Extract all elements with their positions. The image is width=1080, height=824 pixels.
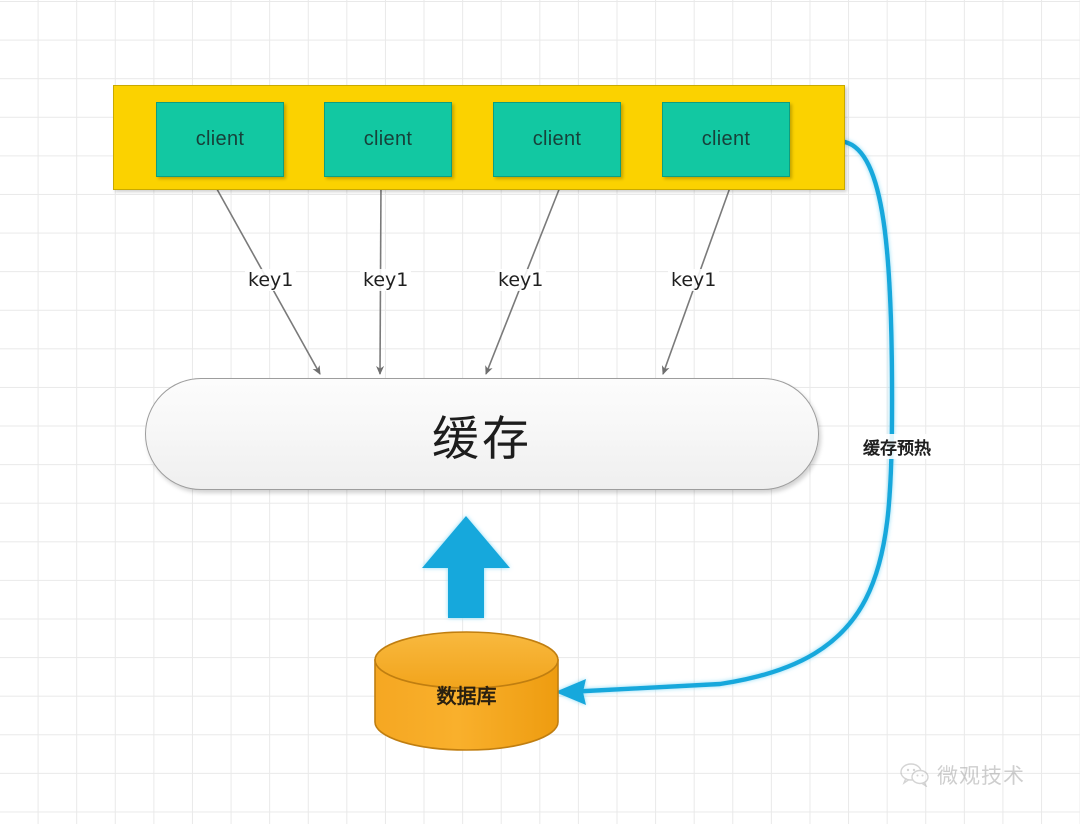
edge-label-key1-2: key1 [360,269,411,291]
client-box-label: client [533,128,582,151]
database-node[interactable]: 数据库 [375,632,558,750]
edge-label-key1-1: key1 [245,269,296,291]
watermark: 微观技术 [900,760,1025,790]
edge-label-key1-3: key1 [495,269,546,291]
client-box-label: client [702,128,751,151]
wechat-icon [900,763,930,787]
client-box-label: client [364,128,413,151]
client-box-1[interactable]: client [156,102,284,177]
client-group-container[interactable]: client client client client [113,85,845,190]
edge-label-key1-4: key1 [668,269,719,291]
cache-node[interactable]: 缓存 [145,378,819,490]
watermark-text: 微观技术 [937,760,1025,790]
client-box-4[interactable]: client [662,102,790,177]
cache-node-label: 缓存 [432,400,532,469]
client-box-2[interactable]: client [324,102,452,177]
edge-label-cache-warmup: 缓存预热 [860,434,934,459]
arrow-db-to-cache-up [422,516,510,618]
client-box-3[interactable]: client [493,102,621,177]
client-box-label: client [196,128,245,151]
diagram-canvas: client client client client 缓存 数据库 key1 … [0,0,1080,824]
database-node-label: 数据库 [375,680,558,709]
